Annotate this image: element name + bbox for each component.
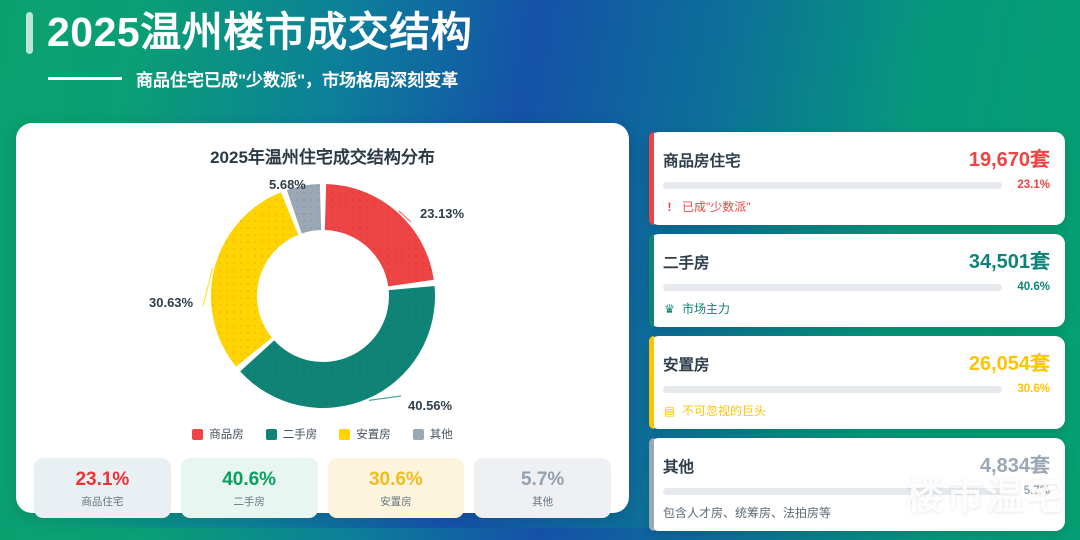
stat-card-label: 商品住宅 xyxy=(38,494,167,509)
stat-card-percent: 30.6% xyxy=(332,469,461,491)
donut-slice-texture xyxy=(211,192,298,366)
card-percent: 30.6% xyxy=(1010,383,1050,395)
card-accent-bar xyxy=(649,234,654,327)
info-card-安置房[interactable]: 安置房26,054套30.6%▤不可忽视的巨头 xyxy=(649,336,1065,429)
leader-line xyxy=(368,396,400,400)
info-card-商品房住宅[interactable]: 商品房住宅19,670套23.1%!已成"少数派" xyxy=(649,132,1065,225)
page-header: 2025温州楼市成交结构 商品住宅已成"少数派"，市场格局深刻变革 xyxy=(26,10,1060,91)
legend-swatch xyxy=(339,429,350,440)
stat-card-二手房[interactable]: 40.6%二手房 xyxy=(181,458,318,518)
card-note: ♛市场主力 xyxy=(663,300,1050,317)
stat-card-percent: 5.7% xyxy=(478,469,607,491)
legend-item-其他[interactable]: 其他 xyxy=(413,426,453,442)
slice-label-secondhand: 40.56% xyxy=(408,398,452,413)
legend-item-安置房[interactable]: 安置房 xyxy=(339,426,391,442)
page-title: 2025温州楼市成交结构 xyxy=(47,10,472,54)
progress-track xyxy=(663,284,1002,291)
progress-track xyxy=(663,386,1002,393)
stat-card-percent: 40.6% xyxy=(185,469,314,491)
page-subtitle: 商品住宅已成"少数派"，市场格局深刻变革 xyxy=(136,66,458,91)
legend-item-二手房[interactable]: 二手房 xyxy=(266,426,318,442)
card-value: 19,670套 xyxy=(969,143,1050,172)
card-note-text: 已成"少数派" xyxy=(682,198,751,215)
card-value: 34,501套 xyxy=(969,245,1050,274)
legend-label: 其他 xyxy=(430,426,453,442)
slice-label-other: 5.68% xyxy=(269,177,306,192)
stat-card-row: 23.1%商品住宅40.6%二手房30.6%安置房5.7%其他 xyxy=(34,458,611,518)
card-accent-bar xyxy=(649,132,654,225)
chart-title: 2025年温州住宅成交结构分布 xyxy=(34,143,611,168)
card-note: !已成"少数派" xyxy=(663,198,1050,215)
card-label: 二手房 xyxy=(663,251,710,273)
building-icon: ▤ xyxy=(663,404,676,417)
card-value: 26,054套 xyxy=(969,347,1050,376)
title-row: 2025温州楼市成交结构 xyxy=(26,10,1060,54)
stat-card-percent: 23.1% xyxy=(38,469,167,491)
card-note-text: 不可忽视的巨头 xyxy=(682,402,766,419)
stat-card-label: 其他 xyxy=(478,494,607,509)
legend-label: 安置房 xyxy=(356,426,391,442)
stat-card-安置房[interactable]: 30.6%安置房 xyxy=(328,458,465,518)
stat-card-商品住宅[interactable]: 23.1%商品住宅 xyxy=(34,458,171,518)
stat-card-label: 二手房 xyxy=(185,494,314,509)
card-label: 安置房 xyxy=(663,353,710,375)
donut-chart: 5.68% 23.13% 30.63% 40.56% xyxy=(34,170,611,422)
card-percent: 40.6% xyxy=(1010,281,1050,293)
info-card-二手房[interactable]: 二手房34,501套40.6%♛市场主力 xyxy=(649,234,1065,327)
chart-panel: 2025年温州住宅成交结构分布 5.68% 23.13% 30.63% 40.5… xyxy=(16,123,629,513)
stat-card-label: 安置房 xyxy=(332,494,461,509)
crown-icon: ♛ xyxy=(663,302,676,315)
subtitle-rule xyxy=(48,77,122,80)
legend-swatch xyxy=(266,429,277,440)
card-progress-row: 30.6% xyxy=(663,383,1050,395)
legend-label: 商品房 xyxy=(209,426,244,442)
slice-label-resettle: 30.63% xyxy=(149,295,193,310)
subtitle-row: 商品住宅已成"少数派"，市场格局深刻变革 xyxy=(48,66,1060,91)
card-note: ▤不可忽视的巨头 xyxy=(663,402,1050,419)
card-label: 其他 xyxy=(663,455,694,477)
card-header: 二手房34,501套 xyxy=(663,245,1050,274)
card-percent: 23.1% xyxy=(1010,179,1050,191)
donut-slices xyxy=(211,184,435,408)
progress-track xyxy=(663,182,1002,189)
watermark: 楼市温宅 xyxy=(906,465,1066,520)
card-progress-row: 23.1% xyxy=(663,179,1050,191)
card-header: 安置房26,054套 xyxy=(663,347,1050,376)
donut-slice-texture xyxy=(324,184,433,286)
card-header: 商品房住宅19,670套 xyxy=(663,143,1050,172)
card-note-text: 包含人才房、统筹房、法拍房等 xyxy=(663,504,831,521)
slice-label-new: 23.13% xyxy=(420,206,464,221)
legend-swatch xyxy=(413,429,424,440)
donut-slice-texture xyxy=(240,286,435,408)
title-accent-bar xyxy=(26,12,33,54)
stat-card-其他[interactable]: 5.7%其他 xyxy=(474,458,611,518)
card-accent-bar xyxy=(649,438,654,531)
donut-svg xyxy=(43,170,603,422)
legend-swatch xyxy=(192,429,203,440)
card-note-text: 市场主力 xyxy=(682,300,730,317)
alert-icon: ! xyxy=(663,200,676,213)
card-accent-bar xyxy=(649,336,654,429)
card-progress-row: 40.6% xyxy=(663,281,1050,293)
legend-item-商品房[interactable]: 商品房 xyxy=(192,426,244,442)
legend-label: 二手房 xyxy=(283,426,318,442)
chart-legend: 商品房二手房安置房其他 xyxy=(34,426,611,442)
card-label: 商品房住宅 xyxy=(663,149,741,171)
